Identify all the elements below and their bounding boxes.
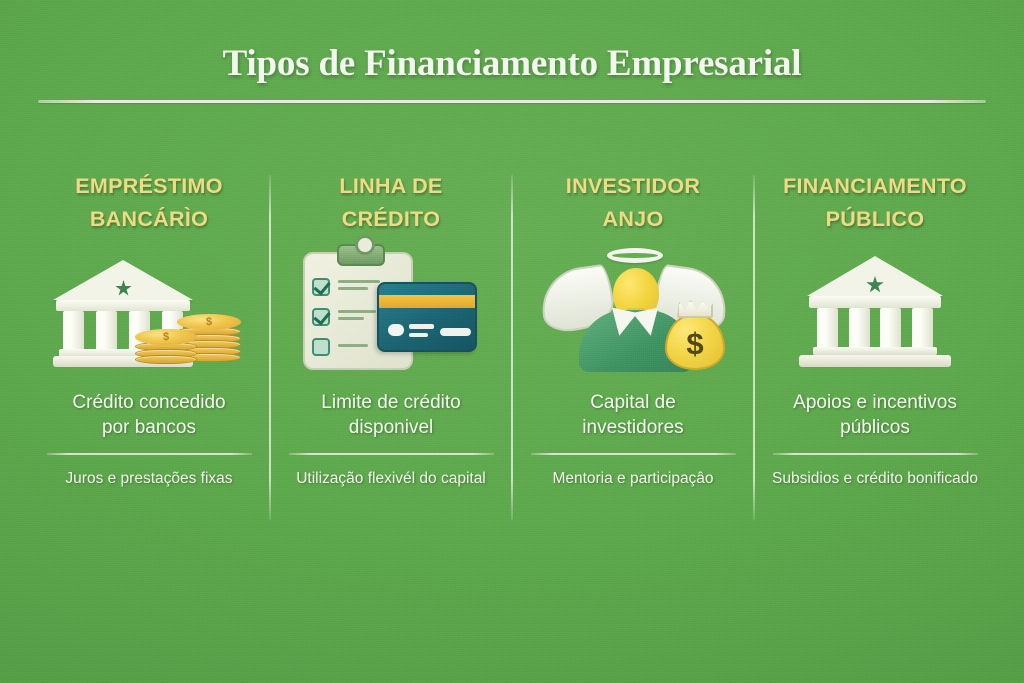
text-lines (338, 280, 380, 294)
card-magnetic-stripe (379, 295, 475, 308)
column-heading-line2: BANCÁRÌO (75, 203, 223, 236)
card-line (409, 333, 428, 337)
column-description: Apoios e incentivos públicos (793, 390, 957, 440)
money-bag-body (665, 314, 725, 370)
title-divider (38, 100, 986, 103)
column-subdescription: Subsidios e crédito bonificado (772, 469, 978, 489)
column-separator (531, 453, 736, 455)
base-shape (799, 355, 951, 367)
column-emprestimo-bancario: EMPRÉSTIMO BANCÁRÌO (28, 170, 270, 520)
money-bag-tie (677, 300, 713, 318)
description-line1: Apoios e incentivos (793, 392, 957, 413)
column-investidor-anjo: INVESTIDOR ANJO (512, 170, 754, 520)
architrave-shape (809, 296, 941, 308)
text-lines (338, 344, 368, 351)
columns-shape (817, 308, 933, 348)
columns-container: EMPRÉSTIMO BANCÁRÌO (28, 170, 996, 520)
column-financiamento-publico: FINANCIAMENTO PÚBLICO Apoios e incentivo… (754, 170, 996, 520)
column-heading-line1: INVESTIDOR (566, 174, 700, 198)
card-chip (388, 324, 404, 336)
text-lines (338, 310, 376, 324)
collar-right-shape (633, 308, 664, 339)
column-subdescription: Utilização flexivél do capital (296, 469, 486, 489)
column-heading-line1: EMPRÉSTIMO (75, 174, 223, 198)
column-subdescription: Mentoria e participaçâo (552, 469, 713, 489)
description-line2: por bancos (72, 415, 225, 440)
pediment-shape (53, 260, 193, 300)
plinth-shape (813, 347, 937, 355)
coin-stack-short-icon (135, 329, 197, 365)
vertical-divider-2 (511, 175, 513, 520)
column-description: Limite de crédito disponivel (321, 390, 460, 440)
column-heading-line2: ANJO (566, 203, 700, 236)
column-linha-de-credito: LINHA DE CRÉDITO (270, 170, 512, 520)
column-description: Crédito concedido por bancos (72, 390, 225, 440)
column-subdescription: Juros e prestações fixas (65, 469, 232, 489)
clipboard-clip-icon (337, 244, 385, 266)
column-heading: EMPRÉSTIMO BANCÁRÌO (75, 170, 223, 238)
clipboard-checklist-credit-card-icon (291, 244, 491, 372)
classical-building-shape (799, 256, 951, 368)
column-heading-line1: FINANCIAMENTO (783, 174, 967, 198)
vertical-divider-1 (269, 175, 271, 520)
checkbox-checked-icon (312, 308, 330, 326)
vertical-divider-3 (753, 175, 755, 520)
money-bag-icon (665, 300, 725, 370)
credit-card-icon (377, 282, 477, 352)
description-line2: investidores (582, 415, 683, 440)
description-line2: disponivel (321, 415, 460, 440)
description-line1: Capital de (590, 392, 676, 413)
card-line (440, 328, 471, 336)
infographic-poster: Tipos de Financiamento Empresarial EMPRÉ… (0, 0, 1024, 683)
checkbox-empty-icon (312, 338, 330, 356)
description-line2: públicos (793, 415, 957, 440)
column-separator (289, 453, 494, 455)
halo-icon (607, 248, 663, 263)
card-line (409, 324, 434, 329)
government-building-icon (775, 244, 975, 372)
architrave-shape (56, 300, 190, 311)
column-separator (47, 453, 252, 455)
column-separator (773, 453, 978, 455)
column-heading-line1: LINHA DE (339, 174, 442, 198)
column-description: Capital de investidores (582, 390, 683, 440)
column-heading-line2: PÚBLICO (783, 203, 967, 236)
column-heading: FINANCIAMENTO PÚBLICO (783, 170, 967, 238)
description-line1: Crédito concedido (72, 392, 225, 413)
page-title: Tipos de Financiamento Empresarial (0, 42, 1024, 85)
angel-figure-icon (539, 244, 729, 372)
bank-with-coins-icon (49, 244, 249, 372)
angel-investor-money-bag-icon (533, 244, 733, 372)
clipboard-card-group (303, 244, 479, 370)
description-line1: Limite de crédito (321, 392, 460, 413)
column-heading: INVESTIDOR ANJO (566, 170, 700, 238)
column-heading-line2: CRÉDITO (339, 203, 442, 236)
checkbox-checked-icon (312, 278, 330, 296)
column-heading: LINHA DE CRÉDITO (339, 170, 442, 238)
